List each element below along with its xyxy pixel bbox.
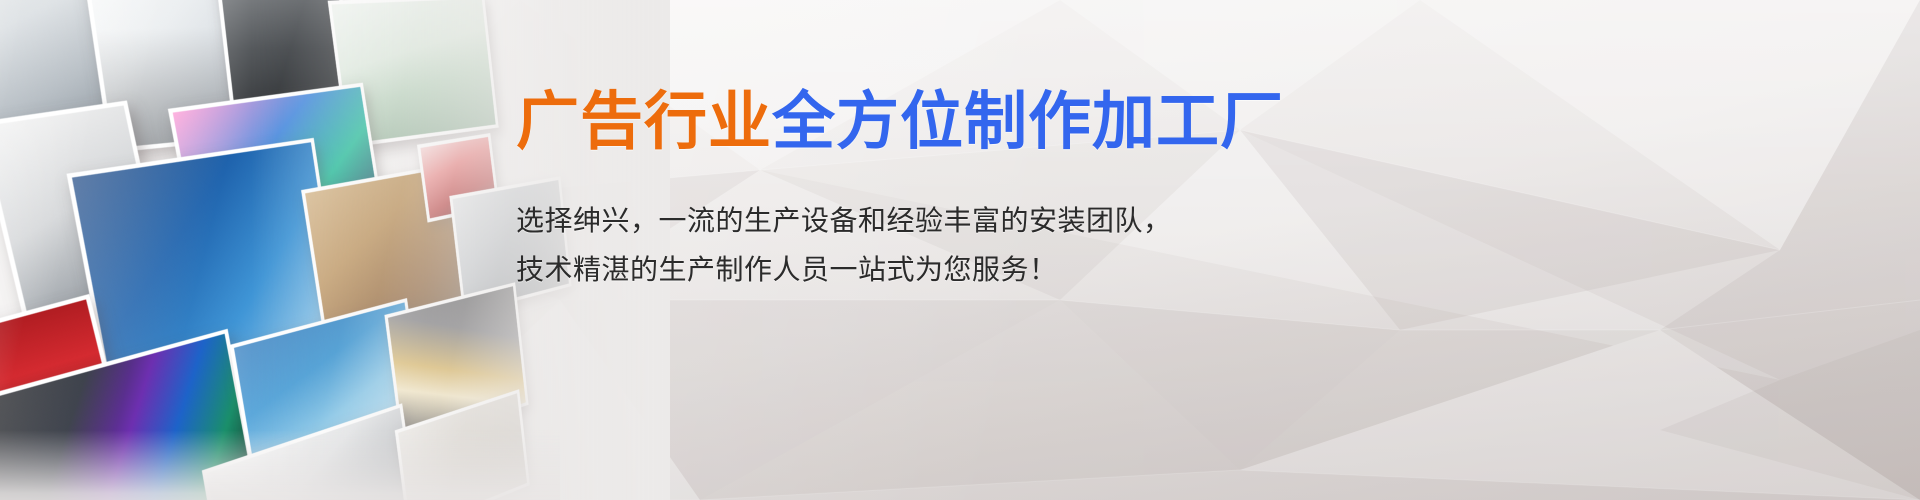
headline-segment-orange: 广告行业 [516,87,772,157]
banner-copy: 广告行业全方位制作加工厂 选择绅兴，一流的生产设备和经验丰富的安装团队， 技术精… [516,84,1516,294]
banner-subtitle: 选择绅兴，一流的生产设备和经验丰富的安装团队， 技术精湛的生产制作人员一站式为您… [516,196,1516,294]
subtitle-line-2: 技术精湛的生产制作人员一站式为您服务！ [516,245,1516,294]
promo-banner: 广告行业全方位制作加工厂 选择绅兴，一流的生产设备和经验丰富的安装团队， 技术精… [0,0,1920,500]
subtitle-line-1: 选择绅兴，一流的生产设备和经验丰富的安装团队， [516,196,1516,245]
headline-segment-blue: 全方位制作加工厂 [772,87,1284,157]
banner-headline: 广告行业全方位制作加工厂 [516,84,1516,160]
